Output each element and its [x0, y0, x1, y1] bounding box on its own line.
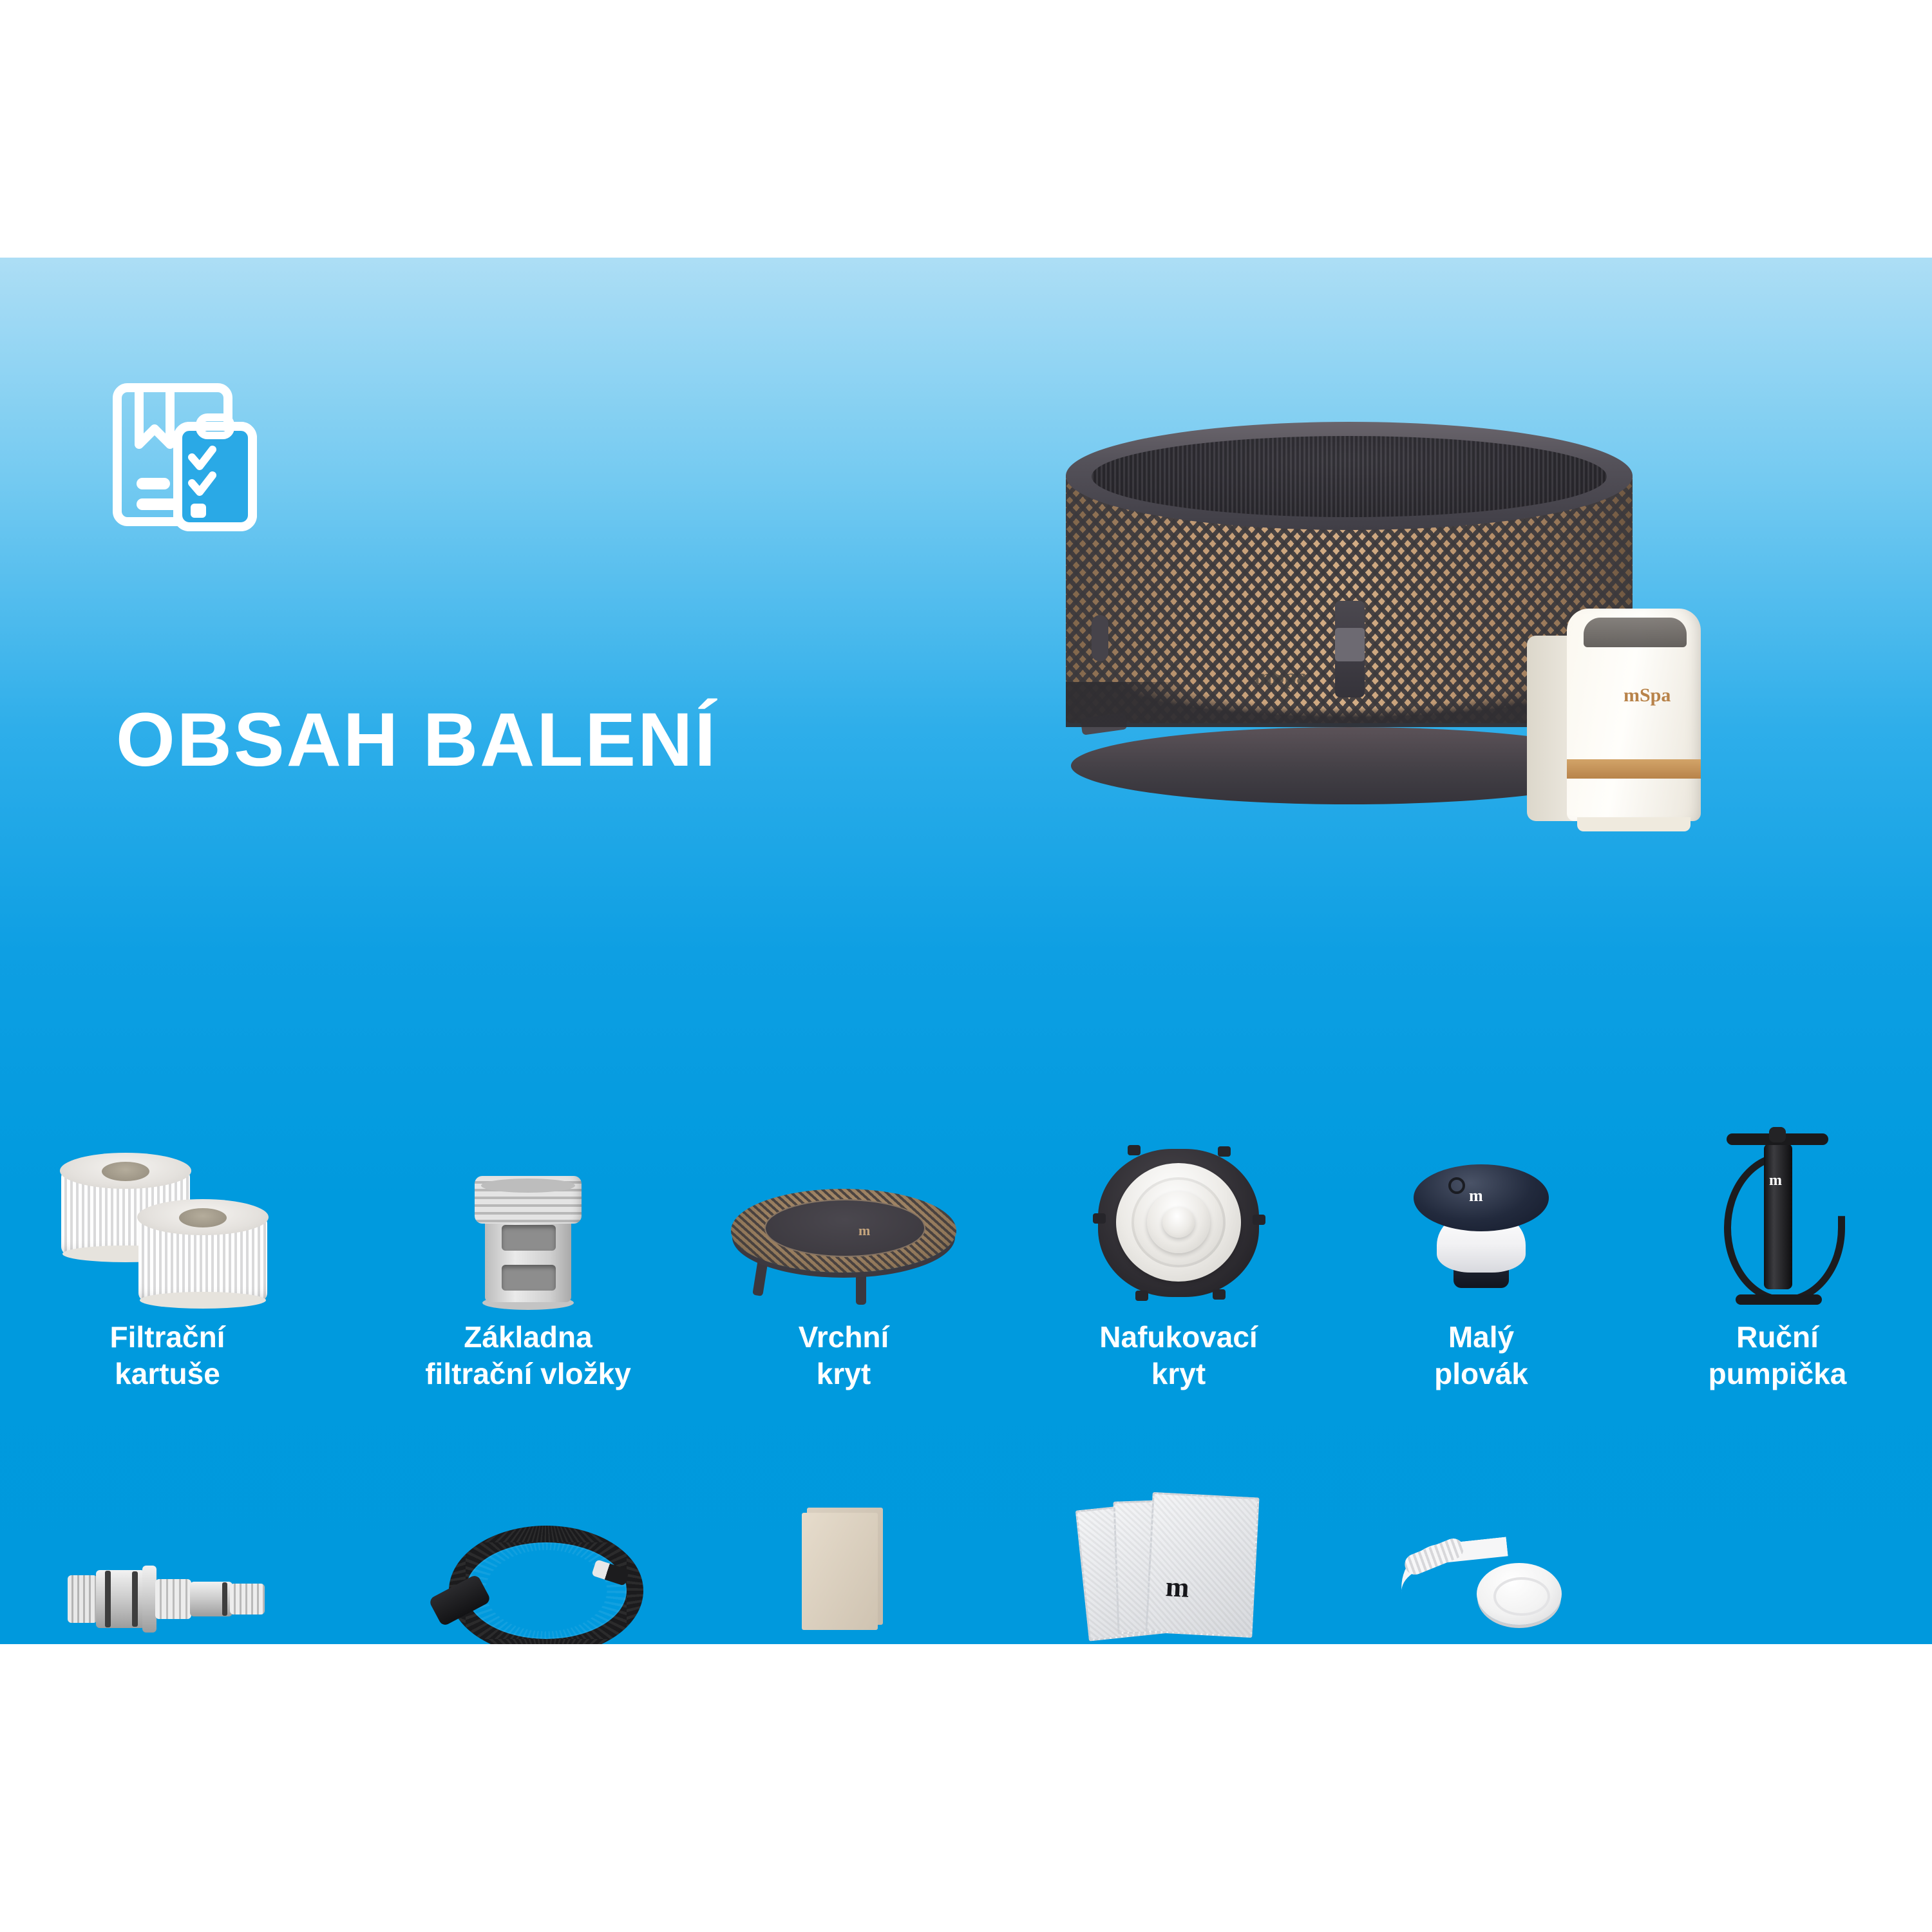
item-inflation-hose[interactable]: Nafukovcí hadice	[386, 1491, 670, 1644]
item-label: Malý plovák	[1346, 1319, 1616, 1392]
mounting-wrench-icon	[1346, 1491, 1616, 1644]
item-filter-cartridges[interactable]: Filtrační kartuše	[0, 1114, 335, 1392]
mat-brand-logo: m	[1165, 1570, 1190, 1604]
tub-brand-logo: mSpa	[1254, 665, 1307, 690]
pump-brand-logo: m	[1769, 1172, 1782, 1189]
item-inflatable-cover[interactable]: Nafukovací kryt	[1030, 1114, 1327, 1392]
inflation-hose-icon	[386, 1491, 670, 1644]
item-ground-mat[interactable]: m Podložka	[1030, 1491, 1327, 1644]
tub-handle-left	[1092, 615, 1108, 661]
item-mounting-wrench[interactable]: Montážní klíč	[1346, 1491, 1616, 1644]
item-patch-kit[interactable]: Sada záplat	[696, 1491, 992, 1644]
small-float-icon: m	[1346, 1114, 1616, 1307]
poster-canvas: OBSAH BALENÍ mSpa	[0, 0, 1932, 1932]
tub-drain-valve	[1081, 712, 1128, 735]
item-label: Vrchní kryt	[696, 1319, 992, 1392]
float-brand-logo: m	[1469, 1186, 1483, 1206]
heater-gold-band	[1567, 759, 1701, 779]
filter-base-icon	[386, 1114, 670, 1307]
patch-kit-icon	[696, 1491, 992, 1644]
cartridge-front	[138, 1215, 267, 1302]
drain-valve-adapter-icon	[0, 1491, 335, 1644]
tub-interior	[1092, 436, 1607, 517]
item-label: Základna filtrační vložky	[386, 1319, 670, 1392]
ground-mat-icon: m	[1030, 1491, 1327, 1644]
item-label: Filtrační kartuše	[0, 1319, 335, 1392]
cover-brand-logo: m	[858, 1222, 870, 1239]
inflatable-cover-icon	[1030, 1114, 1327, 1307]
item-filter-base[interactable]: Základna filtrační vložky	[386, 1114, 670, 1392]
item-top-cover[interactable]: m Vrchní kryt	[696, 1114, 992, 1392]
top-cover-icon: m	[696, 1114, 992, 1307]
heater-control-panel	[1584, 618, 1687, 647]
blue-gradient-panel: OBSAH BALENÍ mSpa	[0, 258, 1932, 1644]
page-title: OBSAH BALENÍ	[116, 702, 717, 778]
heater-foot	[1577, 817, 1690, 831]
heater-brand-logo: mSpa	[1624, 685, 1671, 706]
item-small-float[interactable]: m Malý plovák	[1346, 1114, 1616, 1392]
item-hand-pump[interactable]: m Ruční pumpička	[1636, 1114, 1919, 1392]
hand-pump-icon: m	[1636, 1114, 1919, 1307]
item-label: Ruční pumpička	[1636, 1319, 1919, 1392]
filter-cartridges-icon	[0, 1114, 335, 1307]
heater-pump-unit: mSpa	[1527, 609, 1701, 821]
hero-product-image: mSpa mSpa	[1066, 422, 1781, 834]
tub-rim	[1066, 422, 1633, 530]
tub-buckle	[1335, 628, 1365, 661]
item-drain-valve-adapter[interactable]: Adaptér vypouštěcího ventilu	[0, 1491, 335, 1644]
package-checklist-icon	[108, 377, 276, 532]
item-label: Nafukovací kryt	[1030, 1319, 1327, 1392]
